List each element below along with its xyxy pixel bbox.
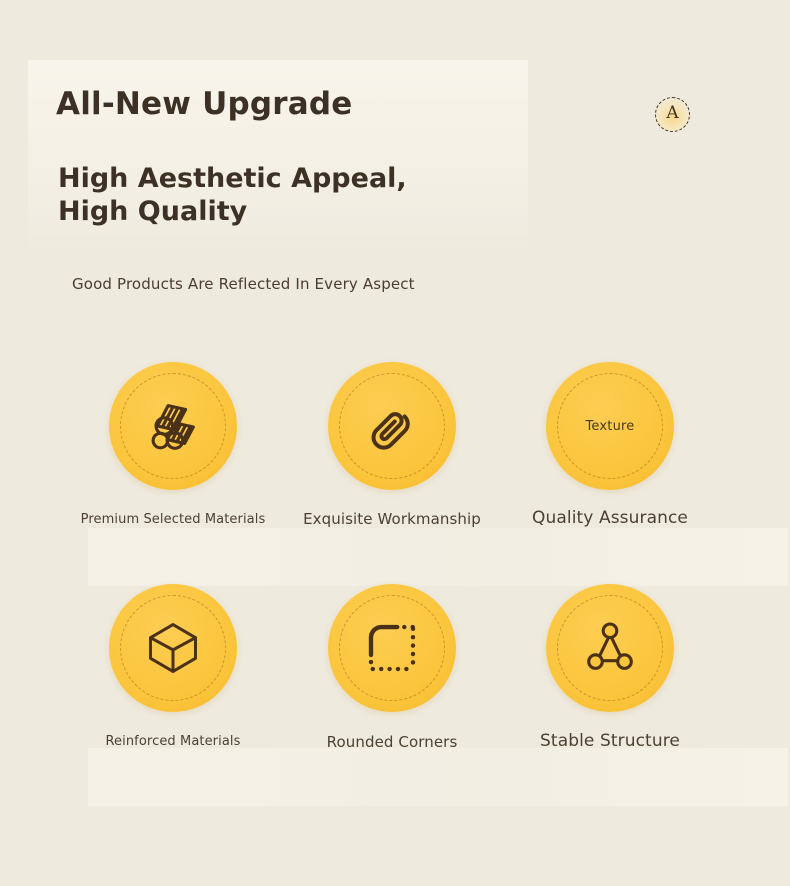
page-title: All-New Upgrade xyxy=(56,86,353,122)
feature-cell-exquisite-workmanship[interactable]: Exquisite Workmanship xyxy=(282,362,502,528)
brand-letter-glyph: A xyxy=(666,105,678,122)
feature-icon-circle xyxy=(328,362,456,490)
triangle-nodes-icon xyxy=(581,619,639,677)
feature-row: Reinforced Materials xyxy=(0,584,790,806)
feature-icon-circle xyxy=(546,584,674,712)
header-section: All-New Upgrade High Aesthetic Appeal, H… xyxy=(0,0,790,330)
feature-cell-reinforced-materials[interactable]: Reinforced Materials xyxy=(63,584,283,749)
feature-caption: Stable Structure xyxy=(500,731,720,751)
feature-cell-rounded-corners[interactable]: Rounded Corners xyxy=(282,584,502,751)
feature-row: Premium Selected Materials Exquisite Wor… xyxy=(0,362,790,584)
feature-caption: Exquisite Workmanship xyxy=(282,510,502,528)
feature-caption: Reinforced Materials xyxy=(63,734,283,749)
feature-cell-premium-selected-materials[interactable]: Premium Selected Materials xyxy=(63,362,283,527)
feature-icon-circle: Texture xyxy=(546,362,674,490)
page-subtitle: High Aesthetic Appeal, High Quality xyxy=(58,163,478,229)
paperclip-icon xyxy=(363,397,421,455)
feature-caption: Rounded Corners xyxy=(282,733,502,751)
feature-icon-circle xyxy=(109,362,237,490)
stacked-logs-icon xyxy=(142,395,204,457)
rounded-corner-icon xyxy=(364,620,420,676)
feature-cell-quality-assurance[interactable]: Texture Quality Assurance xyxy=(500,362,720,528)
feature-cell-stable-structure[interactable]: Stable Structure xyxy=(500,584,720,751)
brand-letter-a-badge: A xyxy=(655,97,690,132)
texture-word-icon: Texture xyxy=(586,419,635,434)
page-tagline: Good Products Are Reflected In Every Asp… xyxy=(72,275,415,293)
feature-caption: Premium Selected Materials xyxy=(63,512,283,527)
feature-caption: Quality Assurance xyxy=(500,508,720,528)
feature-grid: Premium Selected Materials Exquisite Wor… xyxy=(0,362,790,806)
feature-icon-circle xyxy=(109,584,237,712)
cube-box-icon xyxy=(143,618,203,678)
feature-icon-circle xyxy=(328,584,456,712)
